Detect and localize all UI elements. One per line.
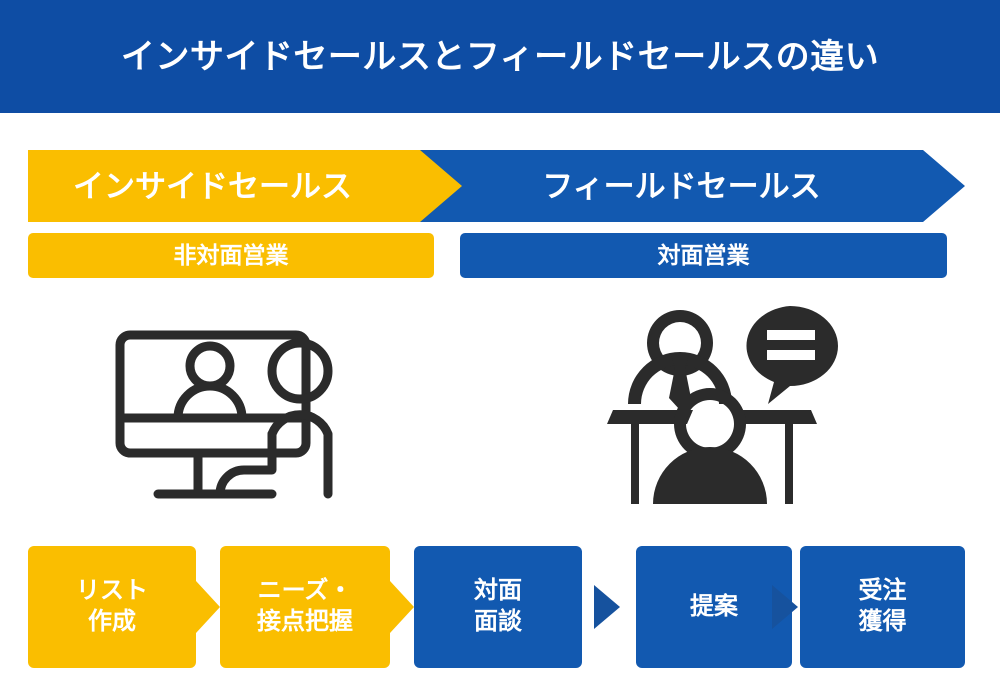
flow-arrow-1-icon bbox=[196, 581, 220, 633]
online-meeting-icon bbox=[110, 298, 390, 513]
subtitle-inside-sales-label: 非対面営業 bbox=[174, 244, 289, 267]
process-step-order-win-line1: 受注 bbox=[859, 576, 907, 607]
process-flow: リスト 作成 ニーズ・ 接点把握 対面 面談 提案 受注 獲得 bbox=[0, 546, 1000, 668]
process-step-needs-contact-line2: 接点把握 bbox=[257, 607, 353, 638]
process-step-list-creation[interactable]: リスト 作成 bbox=[28, 546, 196, 668]
subtitle-bar-field-sales: 対面営業 bbox=[460, 233, 947, 278]
banner-inside-sales-label: インサイドセールス bbox=[73, 171, 352, 202]
process-step-face-meeting-line1: 対面 bbox=[474, 576, 522, 607]
process-step-face-meeting[interactable]: 対面 面談 bbox=[414, 546, 582, 668]
process-step-needs-contact-line1: ニーズ・ bbox=[258, 576, 353, 607]
process-step-list-creation-line1: リスト bbox=[76, 576, 148, 607]
comparison-banner-row: インサイドセールス フィールドセールス bbox=[0, 150, 1000, 222]
process-step-proposal-line1: 提案 bbox=[690, 592, 738, 623]
process-step-list-creation-line2: 作成 bbox=[88, 607, 136, 638]
flow-arrow-3-icon bbox=[594, 585, 620, 629]
page-title: インサイドセールスとフィールドセールスの違い bbox=[121, 40, 879, 74]
banner-inside-sales: インサイドセールス bbox=[28, 150, 468, 222]
process-step-needs-contact[interactable]: ニーズ・ 接点把握 bbox=[220, 546, 390, 668]
face-to-face-meeting-icon bbox=[595, 298, 845, 513]
subtitle-field-sales-label: 対面営業 bbox=[658, 244, 750, 267]
banner-field-sales-label: フィールドセールス bbox=[542, 171, 820, 202]
flow-arrow-2-icon bbox=[390, 581, 414, 633]
process-step-order-win[interactable]: 受注 獲得 bbox=[800, 546, 965, 668]
process-step-order-win-line2: 獲得 bbox=[859, 607, 907, 638]
process-step-proposal[interactable]: 提案 bbox=[636, 546, 792, 668]
page-header: インサイドセールスとフィールドセールスの違い bbox=[0, 0, 1000, 113]
banner-field-sales: フィールドセールス bbox=[420, 150, 965, 222]
subtitle-bar-inside-sales: 非対面営業 bbox=[28, 233, 434, 278]
flow-arrow-4-icon bbox=[772, 585, 798, 629]
process-step-face-meeting-line2: 面談 bbox=[474, 607, 522, 638]
